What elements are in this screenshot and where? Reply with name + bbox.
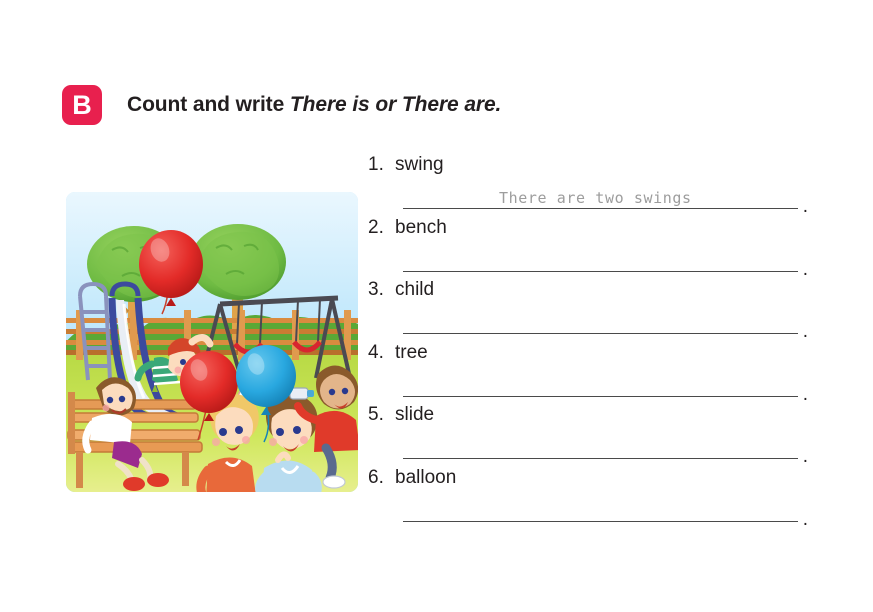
instruction-plain-text: Count and write — [127, 93, 290, 116]
exercise-header: B Count and write There is or There are. — [62, 85, 501, 125]
answer-period-2: . — [803, 266, 808, 274]
answer-period-6: . — [803, 516, 808, 524]
answer-line-5 — [403, 458, 798, 459]
answer-period-1: . — [803, 203, 808, 211]
answer-row-4[interactable]: . — [403, 372, 808, 400]
question-number-6: 6. — [368, 467, 395, 489]
playground-illustration — [66, 192, 358, 492]
question-word-5: slide — [395, 404, 434, 426]
answer-row-5[interactable]: . — [403, 434, 808, 462]
question-prompt-6: 6. balloon — [368, 467, 808, 489]
question-prompt-1: 1. swing — [368, 154, 808, 176]
answer-line-1 — [403, 208, 798, 209]
answer-line-6 — [403, 521, 798, 522]
question-number-5: 5. — [368, 404, 395, 426]
answer-line-2 — [403, 271, 798, 272]
question-word-4: tree — [395, 342, 428, 364]
question-prompt-2: 2. bench — [368, 217, 808, 239]
answer-line-3 — [403, 333, 798, 334]
answer-row-3[interactable]: . — [403, 309, 808, 337]
question-number-1: 1. — [368, 154, 395, 176]
exercise-badge-letter: B — [62, 85, 102, 125]
question-word-1: swing — [395, 154, 444, 176]
question-number-4: 4. — [368, 342, 395, 364]
instruction-italic-text: There is or There are. — [290, 93, 501, 116]
question-item-5: 5. slide . — [368, 404, 808, 467]
question-number-2: 2. — [368, 217, 395, 239]
question-item-6: 6. balloon . — [368, 467, 808, 530]
answer-period-4: . — [803, 391, 808, 399]
question-item-2: 2. bench . — [368, 217, 808, 280]
question-list: 1. swing There are two swings . 2. bench… — [368, 154, 808, 529]
answer-period-3: . — [803, 328, 808, 336]
exercise-instruction: Count and write There is or There are. — [127, 93, 501, 117]
question-word-3: child — [395, 279, 434, 301]
question-item-3: 3. child . — [368, 279, 808, 342]
answer-line-4 — [403, 396, 798, 397]
question-number-3: 3. — [368, 279, 395, 301]
answer-row-6[interactable]: . — [403, 497, 808, 525]
question-item-1: 1. swing There are two swings . — [368, 154, 808, 217]
question-prompt-3: 3. child — [368, 279, 808, 301]
answer-row-2[interactable]: . — [403, 247, 808, 275]
answer-row-1[interactable]: There are two swings . — [403, 184, 808, 212]
question-prompt-5: 5. slide — [368, 404, 808, 426]
answer-period-5: . — [803, 453, 808, 461]
question-word-6: balloon — [395, 467, 456, 489]
answer-text-1: There are two swings — [499, 189, 692, 207]
question-item-4: 4. tree . — [368, 342, 808, 405]
question-word-2: bench — [395, 217, 447, 239]
question-prompt-4: 4. tree — [368, 342, 808, 364]
playground-scene-svg — [66, 192, 358, 492]
